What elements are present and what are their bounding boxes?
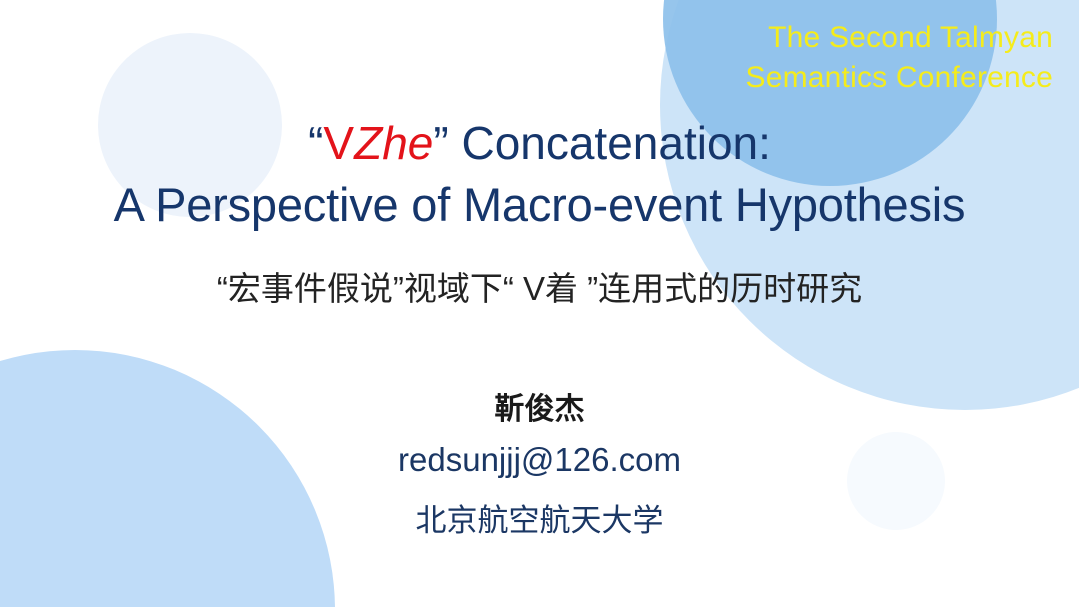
title-open-quote: “ — [308, 117, 323, 169]
title-slide: The Second Talmyan Semantics Conference … — [0, 0, 1079, 607]
title-line-1-rest: Concatenation: — [449, 117, 771, 169]
conference-banner: The Second Talmyan Semantics Conference — [623, 18, 1053, 98]
term-plain-part: V — [323, 117, 354, 169]
title-line-1: “VZhe” Concatenation: — [0, 113, 1079, 174]
term-italic-part: Zhe — [354, 117, 433, 169]
conference-name-line-2: Semantics Conference — [623, 58, 1053, 98]
title-line-2: A Perspective of Macro-event Hypothesis — [0, 174, 1079, 237]
conference-name-line-1: The Second Talmyan — [623, 18, 1053, 58]
author-email: redsunjjj@126.com — [0, 440, 1079, 480]
slide-title: “VZhe” Concatenation: A Perspective of M… — [0, 113, 1079, 237]
author-name: 靳俊杰 — [0, 392, 1079, 428]
chinese-subtitle: “宏事件假说”视域下“ V着 ”连用式的历时研究 — [0, 268, 1079, 311]
title-close-quote: ” — [433, 117, 448, 169]
author-affiliation: 北京航空航天大学 — [0, 502, 1079, 539]
highlighted-term: VZhe — [323, 117, 433, 169]
author-block: 靳俊杰 redsunjjj@126.com 北京航空航天大学 — [0, 392, 1079, 539]
